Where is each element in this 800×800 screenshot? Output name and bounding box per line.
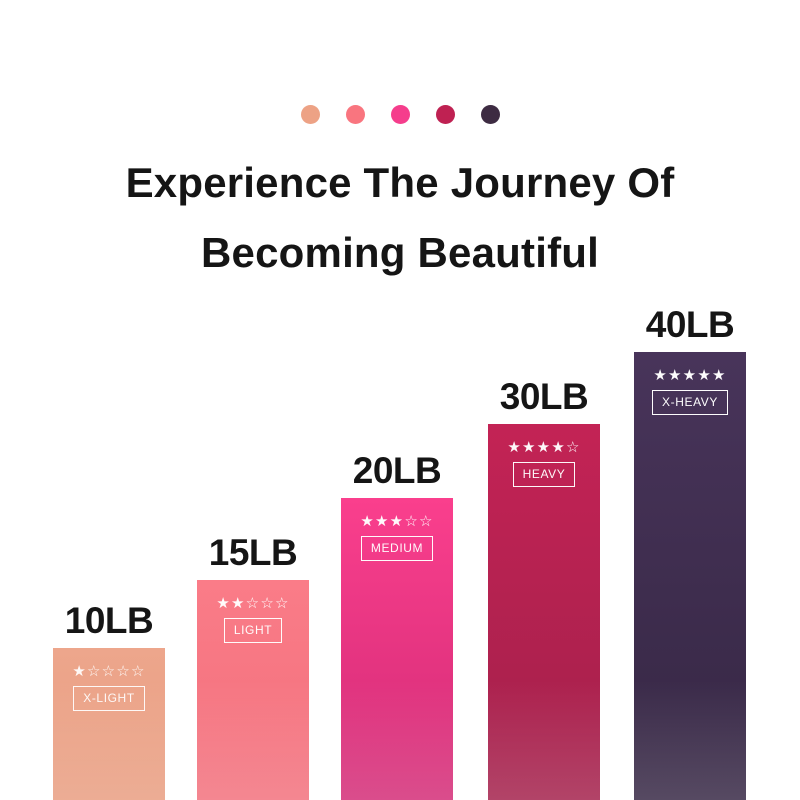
bar-30lb[interactable]: 30LB★★★★☆HEAVY	[488, 424, 600, 800]
bar-40lb-value-label: 40LB	[646, 304, 734, 346]
bar-10lb-annotation: ★☆☆☆☆X-LIGHT	[53, 664, 165, 711]
bar-20lb-star-rating: ★★★☆☆	[360, 514, 433, 529]
resistance-bar-chart: 10LB★☆☆☆☆X-LIGHT15LB★★☆☆☆LIGHT20LB★★★☆☆M…	[0, 0, 800, 800]
bar-10lb-column: ★☆☆☆☆X-LIGHT	[53, 648, 165, 800]
bar-40lb-star-rating: ★★★★★	[653, 368, 726, 383]
bar-15lb-bottom-fade	[197, 680, 309, 800]
bar-15lb-column: ★★☆☆☆LIGHT	[197, 580, 309, 800]
bar-15lb-value-label: 15LB	[209, 532, 297, 574]
bar-10lb-level-badge: X-LIGHT	[73, 686, 145, 711]
bar-20lb-value-label: 20LB	[353, 450, 441, 492]
bar-40lb-bottom-fade	[634, 680, 746, 800]
bar-15lb-annotation: ★★☆☆☆LIGHT	[197, 596, 309, 643]
bar-10lb-value-label: 10LB	[65, 600, 153, 642]
bar-20lb-level-badge: MEDIUM	[361, 536, 433, 561]
bar-40lb-level-badge: X-HEAVY	[652, 390, 728, 415]
bar-20lb-annotation: ★★★☆☆MEDIUM	[341, 514, 453, 561]
bar-20lb-bottom-fade	[341, 680, 453, 800]
bar-30lb-star-rating: ★★★★☆	[507, 440, 580, 455]
bar-20lb-column: ★★★☆☆MEDIUM	[341, 498, 453, 800]
product-infographic: Experience The Journey Of Becoming Beaut…	[0, 0, 800, 800]
bar-30lb-level-badge: HEAVY	[513, 462, 576, 487]
bar-40lb-annotation: ★★★★★X-HEAVY	[634, 368, 746, 415]
bar-20lb[interactable]: 20LB★★★☆☆MEDIUM	[341, 498, 453, 800]
bar-30lb-value-label: 30LB	[500, 376, 588, 418]
bar-30lb-annotation: ★★★★☆HEAVY	[488, 440, 600, 487]
bar-40lb[interactable]: 40LB★★★★★X-HEAVY	[634, 352, 746, 800]
bar-40lb-column: ★★★★★X-HEAVY	[634, 352, 746, 800]
bar-10lb-star-rating: ★☆☆☆☆	[72, 664, 145, 679]
bar-30lb-bottom-fade	[488, 680, 600, 800]
bar-10lb[interactable]: 10LB★☆☆☆☆X-LIGHT	[53, 648, 165, 800]
bar-30lb-column: ★★★★☆HEAVY	[488, 424, 600, 800]
bar-15lb[interactable]: 15LB★★☆☆☆LIGHT	[197, 580, 309, 800]
bar-15lb-level-badge: LIGHT	[224, 618, 282, 643]
bar-15lb-star-rating: ★★☆☆☆	[216, 596, 289, 611]
